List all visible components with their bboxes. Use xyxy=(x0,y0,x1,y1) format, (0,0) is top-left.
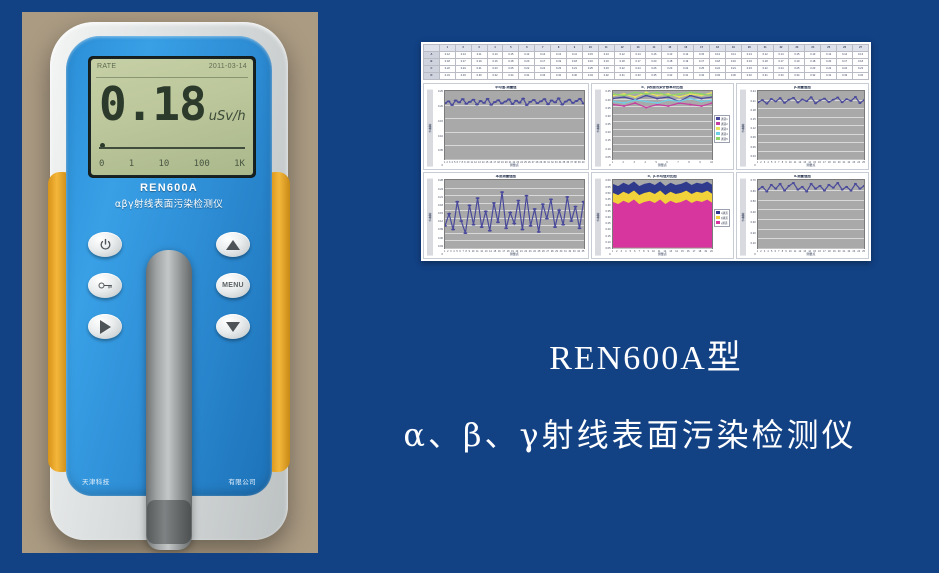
data-point xyxy=(644,101,647,103)
y-tick-label: 0.15 xyxy=(602,139,611,142)
table-header-cell: 7 xyxy=(535,45,551,52)
table-cell: 0.24 xyxy=(535,66,551,73)
data-point xyxy=(796,102,799,104)
data-point xyxy=(492,202,496,204)
legend-item: β通道 xyxy=(716,216,728,220)
y-tick-label: 0.50 xyxy=(747,200,756,203)
lcd-scale-tick: 10 xyxy=(158,159,169,169)
data-point xyxy=(511,103,515,105)
table-cell: 0.13 xyxy=(805,52,821,59)
table-header-cell xyxy=(424,45,440,52)
table-header-cell: 21 xyxy=(757,45,773,52)
table-cell: 0.13 xyxy=(598,52,614,59)
data-point xyxy=(459,220,463,222)
table-cell: 0.24 xyxy=(710,66,726,73)
data-point xyxy=(496,100,500,102)
table-cell: 0.15 xyxy=(694,52,710,59)
lcd-scale-tick: 100 xyxy=(194,159,210,169)
table-header-row: 1234567891011121314151617181920212223242… xyxy=(424,45,869,52)
table-cell: 0.23 xyxy=(487,66,503,73)
table-cell: 0.13 xyxy=(487,52,503,59)
data-point xyxy=(567,99,571,101)
data-point xyxy=(792,97,795,99)
data-point xyxy=(471,99,475,101)
lcd-status-right: 2011-03-14 xyxy=(209,63,247,70)
data-point xyxy=(849,190,852,192)
table-cell: 0.22 xyxy=(439,66,455,73)
table-cell: 0.22 xyxy=(757,66,773,73)
table-row-header: A xyxy=(424,52,440,59)
line-series xyxy=(613,99,712,104)
table-cell: 0.14 xyxy=(710,52,726,59)
chart-title: 本底测量值图 xyxy=(427,175,585,178)
data-point xyxy=(787,185,790,187)
down-button[interactable] xyxy=(216,314,250,339)
lcd-scale-tick: 1K xyxy=(234,159,245,169)
table-cell: 0.23 xyxy=(598,66,614,73)
y-tick-label: 0.06 xyxy=(434,237,443,240)
area-series xyxy=(613,201,712,248)
table-cell: 0.22 xyxy=(821,66,837,73)
table-cell: 0.25 xyxy=(503,66,519,73)
legend-swatch xyxy=(716,137,720,140)
table-cell: 0.20 xyxy=(646,59,662,66)
data-point xyxy=(800,186,803,188)
data-point xyxy=(464,103,468,105)
table-cell: 0.15 xyxy=(789,52,805,59)
data-point xyxy=(578,98,582,100)
table-cell: 0.19 xyxy=(551,59,567,66)
y-tick-label: 0.60 xyxy=(602,179,611,182)
chart-title: α-测量值图 xyxy=(740,175,865,178)
table-cell: 0.12 xyxy=(439,52,455,59)
plot-wrap: 1234567891011121314151617181920212223242… xyxy=(444,179,585,256)
table-cell: 0.20 xyxy=(519,59,535,66)
data-point xyxy=(666,95,669,97)
table-header-cell: 12 xyxy=(614,45,630,52)
data-point xyxy=(512,223,516,225)
menu-button[interactable]: MENU xyxy=(216,273,250,298)
plot-area xyxy=(444,179,585,249)
y-tick-label: 0.28 xyxy=(434,179,443,182)
y-axis-ticks: 0.240.210.180.150.120.090.060.030 xyxy=(747,90,757,167)
x-axis-label: 测量点 xyxy=(612,253,713,256)
data-point xyxy=(573,206,577,208)
lcd-scale-tick: 0 xyxy=(99,159,104,169)
table-cell: 0.33 xyxy=(630,73,646,80)
legend-item: 通道3 xyxy=(716,127,728,131)
data-point xyxy=(461,99,465,101)
chart-body: 计数率0.250.200.150.100.0501234567891011121… xyxy=(427,90,585,167)
y-tick-label: 0.18 xyxy=(434,204,443,207)
data-point xyxy=(655,102,658,104)
data-point xyxy=(468,205,472,207)
chart-title: α、β表面污染计数率对比图 xyxy=(595,86,730,89)
y-tick-label: 0.09 xyxy=(747,136,756,139)
data-point xyxy=(823,98,826,100)
chart-legend: 通道1通道2通道3通道4通道5 xyxy=(714,115,730,143)
y-tick-label: 0 xyxy=(602,253,611,256)
table-cell: 0.21 xyxy=(725,66,741,73)
data-point xyxy=(769,184,772,186)
legend-swatch xyxy=(716,122,720,125)
table-cell: 0.16 xyxy=(725,59,741,66)
caption-subtitle: α、β、γ射线表面污染检测仪 xyxy=(330,410,930,456)
table-cell: 0.18 xyxy=(662,59,678,66)
legend-swatch xyxy=(716,132,720,135)
table-cell: 0.33 xyxy=(837,73,853,80)
legend-swatch xyxy=(716,127,720,130)
table-cell: 0.21 xyxy=(471,66,487,73)
table-cell: 0.34 xyxy=(789,73,805,80)
data-point xyxy=(840,102,843,104)
x-axis-label: 测量点 xyxy=(757,164,865,167)
up-button[interactable] xyxy=(216,232,250,257)
table-cell: 0.31 xyxy=(821,73,837,80)
table-cell: 0.32 xyxy=(853,73,869,80)
data-point xyxy=(549,199,553,201)
table-cell: 0.12 xyxy=(519,52,535,59)
data-point xyxy=(809,183,812,185)
table-header-cell: 5 xyxy=(503,45,519,52)
lcd-screen: RATE 2011-03-14 0.18 uSv/h 01101001K xyxy=(91,59,253,175)
table-cell: 0.21 xyxy=(567,66,583,73)
lcd-reading: 0.18 uSv/h xyxy=(99,81,246,127)
data-point xyxy=(543,99,547,101)
table-header-cell: 8 xyxy=(551,45,567,52)
data-point xyxy=(476,198,480,200)
data-point xyxy=(805,101,808,103)
chart-title: 平均值-测量值 xyxy=(427,86,585,89)
legend-swatch xyxy=(716,216,720,219)
table-cell: 0.25 xyxy=(789,66,805,73)
handle-clip xyxy=(147,500,191,544)
chart-body: 计数率0.450.400.350.300.250.200.150.100.050… xyxy=(595,90,730,167)
table-cell: 0.11 xyxy=(725,52,741,59)
chart-svg xyxy=(445,180,584,248)
data-point xyxy=(508,212,512,214)
legend-item: 通道2 xyxy=(716,122,728,126)
data-point xyxy=(689,98,692,100)
data-point xyxy=(783,190,786,192)
y-axis-label: 计数率 xyxy=(427,90,433,167)
data-point xyxy=(787,99,790,101)
lcd-scale-tick: 1 xyxy=(129,159,134,169)
table-cell: 0.34 xyxy=(694,73,710,80)
data-point xyxy=(765,191,768,193)
data-point xyxy=(774,101,777,103)
data-point xyxy=(814,188,817,190)
data-point xyxy=(571,102,575,104)
y-tick-label: 0.40 xyxy=(747,211,756,214)
data-point xyxy=(700,93,703,95)
table-header-cell: 10 xyxy=(582,45,598,52)
data-point xyxy=(486,98,490,100)
data-point xyxy=(480,227,484,229)
data-point xyxy=(700,98,703,100)
y-tick-label: 0.20 xyxy=(434,105,443,108)
data-point xyxy=(582,201,584,203)
y-tick-label: 0.40 xyxy=(602,204,611,207)
table-header-cell: 16 xyxy=(678,45,694,52)
chart-svg xyxy=(613,91,712,159)
table-cell: 0.22 xyxy=(678,66,694,73)
data-point xyxy=(761,186,764,188)
data-point xyxy=(818,100,821,102)
table-row: D0.310.330.300.320.340.310.330.320.300.3… xyxy=(424,73,869,80)
data-point xyxy=(774,188,777,190)
grip-left xyxy=(48,172,68,472)
data-point xyxy=(447,213,451,215)
data-point xyxy=(655,98,658,100)
table-cell: 0.22 xyxy=(614,66,630,73)
y-tick-label: 0.20 xyxy=(602,228,611,231)
data-point xyxy=(858,103,861,105)
table-header-cell: 26 xyxy=(837,45,853,52)
legend-swatch xyxy=(716,117,720,120)
table-cell: 0.31 xyxy=(678,73,694,80)
maker-text-left: 天津科技 xyxy=(82,476,110,486)
data-point xyxy=(689,92,692,94)
table-cell: 0.16 xyxy=(582,59,598,66)
grip-right xyxy=(270,172,290,472)
y-tick-label: 0.05 xyxy=(434,149,443,152)
table-cell: 0.17 xyxy=(837,59,853,66)
data-point xyxy=(827,101,830,103)
table-header-cell: 15 xyxy=(662,45,678,52)
data-point xyxy=(677,101,680,103)
table-cell: 0.25 xyxy=(582,66,598,73)
y-tick-label: 0.25 xyxy=(434,90,443,93)
y-tick-label: 0 xyxy=(434,164,443,167)
y-tick-label: 0.03 xyxy=(747,155,756,158)
data-point xyxy=(488,230,492,232)
data-point xyxy=(529,225,533,227)
table-cell: 0.19 xyxy=(789,59,805,66)
lcd-status-row: RATE 2011-03-14 xyxy=(97,63,247,70)
plot-wrap: 12345678910测量点 xyxy=(612,90,713,167)
product-photo: RATE 2011-03-14 0.18 uSv/h 01101001K xyxy=(22,12,318,553)
data-point xyxy=(578,228,582,230)
data-point xyxy=(537,231,541,233)
table-cell: 0.32 xyxy=(662,73,678,80)
data-point xyxy=(454,100,458,102)
legend-item: 通道5 xyxy=(716,137,728,141)
chart-svg xyxy=(758,91,864,159)
y-tick-label: 0.06 xyxy=(747,146,756,149)
table-cell: 0.34 xyxy=(503,73,519,80)
power-icon xyxy=(99,238,112,251)
y-tick-label: 0.30 xyxy=(602,115,611,118)
data-point xyxy=(805,191,808,193)
y-tick-label: 0.35 xyxy=(602,210,611,213)
y-axis-ticks: 0.280.240.210.180.150.120.090.060.030 xyxy=(434,179,444,256)
table-header-cell: 22 xyxy=(773,45,789,52)
table-cell: 0.14 xyxy=(455,52,471,59)
table-cell: 0.23 xyxy=(741,66,757,73)
play-icon xyxy=(100,320,111,334)
table-cell: 0.15 xyxy=(503,52,519,59)
table-cell: 0.24 xyxy=(837,66,853,73)
data-point xyxy=(689,104,692,106)
maker-text-right: 有限公司 xyxy=(228,476,256,486)
lcd-bezel: RATE 2011-03-14 0.18 uSv/h 01101001K xyxy=(88,56,256,178)
data-point xyxy=(445,225,447,227)
table-cell: 0.18 xyxy=(805,59,821,66)
table-cell: 0.17 xyxy=(455,59,471,66)
chart-top-right: β-测量值图计数率0.240.210.180.150.120.090.060.0… xyxy=(736,83,869,170)
table-cell: 0.18 xyxy=(853,59,869,66)
y-axis-label: 计数率 xyxy=(740,90,746,167)
line-series xyxy=(613,103,712,108)
data-point xyxy=(525,195,529,197)
data-point xyxy=(565,196,569,198)
data-point xyxy=(832,99,835,101)
lcd-bar-axis xyxy=(99,147,245,149)
y-axis-label: 计数率 xyxy=(595,179,601,256)
data-point xyxy=(633,92,636,94)
y-tick-label: 0.18 xyxy=(747,109,756,112)
table-header-cell: 9 xyxy=(567,45,583,52)
model-description: αβγ射线表面污染检测仪 xyxy=(66,196,272,210)
table-header-cell: 19 xyxy=(725,45,741,52)
data-table: 1234567891011121314151617181920212223242… xyxy=(423,44,869,80)
chart-svg xyxy=(445,91,584,159)
table-cell: 0.32 xyxy=(598,73,614,80)
table-cell: 0.30 xyxy=(725,73,741,80)
table-cell: 0.19 xyxy=(598,59,614,66)
table-cell: 0.30 xyxy=(471,73,487,80)
table-header-cell: 6 xyxy=(519,45,535,52)
legend-label: γ通道 xyxy=(721,221,727,225)
table-cell: 0.23 xyxy=(662,66,678,73)
data-point xyxy=(809,97,812,99)
data-point xyxy=(451,229,455,231)
chart-grid: 平均值-测量值计数率0.250.200.150.100.050123456789… xyxy=(423,83,869,259)
legend-label: 通道2 xyxy=(721,122,728,126)
data-point xyxy=(516,200,520,202)
plot-wrap: 1234567891011121314151617181920212223242… xyxy=(757,179,865,256)
table-cell: 0.33 xyxy=(710,73,726,80)
software-report-panel: 1234567891011121314151617181920212223242… xyxy=(421,42,871,261)
data-point xyxy=(557,98,561,100)
lcd-status-left: RATE xyxy=(97,63,116,70)
table-cell: 0.17 xyxy=(694,59,710,66)
legend-swatch xyxy=(716,211,720,214)
table-cell: 0.31 xyxy=(439,73,455,80)
table-header-cell: 24 xyxy=(805,45,821,52)
y-tick-label: 0.24 xyxy=(747,90,756,93)
table-cell: 0.12 xyxy=(678,52,694,59)
y-axis-label: 计数率 xyxy=(595,90,601,167)
table-cell: 0.15 xyxy=(582,52,598,59)
table-cell: 0.17 xyxy=(535,59,551,66)
data-point xyxy=(700,101,703,103)
table-cell: 0.18 xyxy=(614,59,630,66)
data-point xyxy=(561,224,565,226)
chart-svg xyxy=(613,180,712,248)
data-point xyxy=(500,103,504,105)
table-header-cell: 2 xyxy=(455,45,471,52)
table-cell: 0.13 xyxy=(741,52,757,59)
y-tick-label: 0.21 xyxy=(434,196,443,199)
chart-bottom-left: 本底测量值图计数率0.280.240.210.180.150.120.090.0… xyxy=(423,172,589,259)
data-point xyxy=(557,210,561,212)
data-point xyxy=(541,204,545,206)
x-axis-label: 测量点 xyxy=(444,164,585,167)
table-header-cell: 4 xyxy=(487,45,503,52)
data-point xyxy=(836,182,839,184)
data-point xyxy=(564,101,568,103)
data-point xyxy=(457,102,461,104)
y-tick-label: 0 xyxy=(747,164,756,167)
data-point xyxy=(633,96,636,98)
power-button[interactable] xyxy=(88,232,122,257)
y-axis-ticks: 0.450.400.350.300.250.200.150.100.050 xyxy=(602,90,612,167)
table-cell: 0.32 xyxy=(487,73,503,80)
device-handle xyxy=(146,250,192,550)
chart-legend: α通道β通道γ通道 xyxy=(714,209,730,227)
play-button[interactable] xyxy=(88,314,122,339)
data-point xyxy=(823,190,826,192)
legend-label: 通道1 xyxy=(721,117,728,121)
data-point xyxy=(504,228,508,230)
model-text-block: REN600A αβγ射线表面污染检测仪 xyxy=(66,182,272,210)
radiation-detector-device: RATE 2011-03-14 0.18 uSv/h 01101001K xyxy=(50,22,288,540)
table-cell: 0.20 xyxy=(821,59,837,66)
table-header-cell: 23 xyxy=(789,45,805,52)
data-point xyxy=(528,101,532,103)
y-tick-label: 0.10 xyxy=(602,148,611,151)
table-cell: 0.13 xyxy=(662,52,678,59)
table-cell: 0.23 xyxy=(805,66,821,73)
data-point xyxy=(655,92,658,94)
y-tick-label: 0.21 xyxy=(747,100,756,103)
data-point xyxy=(482,102,486,104)
data-point xyxy=(818,185,821,187)
data-point xyxy=(472,224,476,226)
y-tick-label: 0.09 xyxy=(434,228,443,231)
table-cell: 0.31 xyxy=(614,73,630,80)
key-icon xyxy=(98,280,113,291)
y-tick-label: 0.05 xyxy=(602,156,611,159)
data-point xyxy=(503,101,507,103)
table-cell: 0.14 xyxy=(535,52,551,59)
data-point xyxy=(765,103,768,105)
data-point xyxy=(814,103,817,105)
y-tick-label: 0.55 xyxy=(602,186,611,189)
table-cell: 0.35 xyxy=(646,73,662,80)
table-cell: 0.17 xyxy=(773,59,789,66)
data-point xyxy=(496,222,500,224)
data-point xyxy=(525,105,529,107)
data-point xyxy=(479,100,483,102)
y-tick-label: 0.45 xyxy=(602,198,611,201)
data-point xyxy=(622,95,625,97)
chart-body: 计数率0.700.600.500.400.300.200.10012345678… xyxy=(740,179,865,256)
table-row-header: C xyxy=(424,66,440,73)
key-button[interactable] xyxy=(88,273,122,298)
y-axis-ticks: 0.700.600.500.400.300.200.100 xyxy=(747,179,757,256)
table-header-cell: 20 xyxy=(741,45,757,52)
data-point xyxy=(845,99,848,101)
data-point xyxy=(539,101,543,103)
table-cell: 0.12 xyxy=(757,52,773,59)
data-point xyxy=(553,227,557,229)
plot-area xyxy=(612,90,713,160)
table-cell: 0.31 xyxy=(519,73,535,80)
y-tick-label: 0.25 xyxy=(602,123,611,126)
